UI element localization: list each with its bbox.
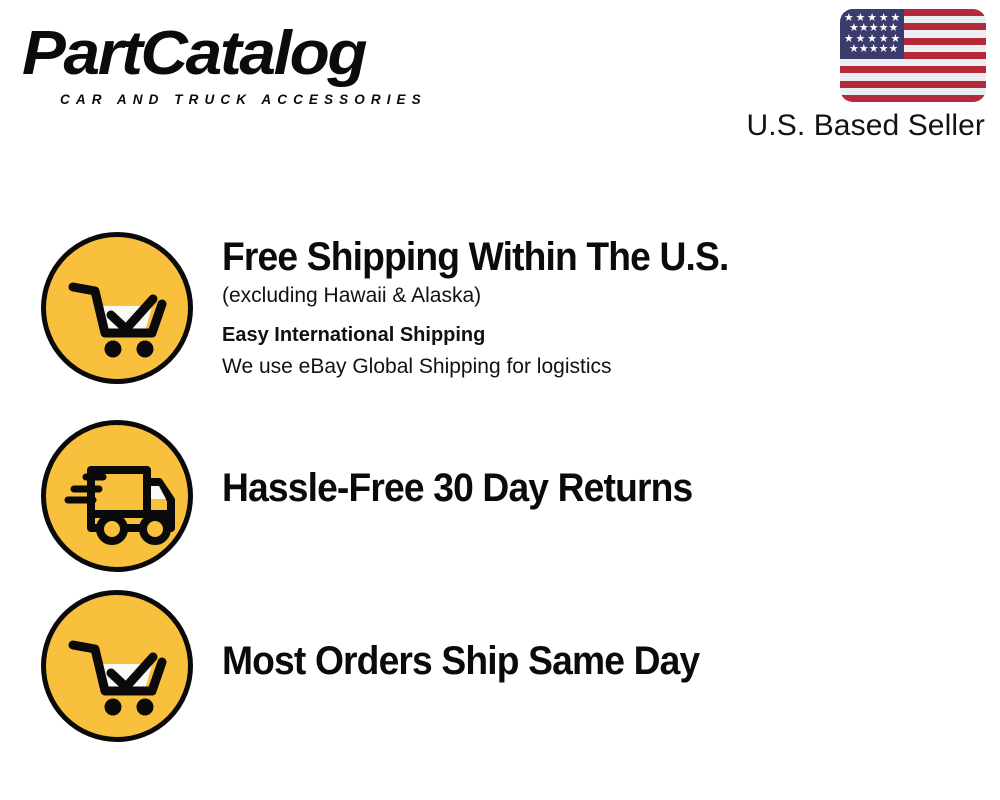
- promo-banner: PartCatalog CAR AND TRUCK ACCESSORIES ★★…: [0, 0, 1000, 800]
- feature-title: Free Shipping Within The U.S.: [222, 234, 946, 280]
- list-item: Free Shipping Within The U.S. (excluding…: [0, 232, 1000, 420]
- feature-text-block: Free Shipping Within The U.S. (excluding…: [193, 232, 1000, 382]
- flag-stars: ★★★★★★★★★★★★★★★★★★★★: [840, 9, 904, 59]
- flag-star-row: ★★★★★: [843, 45, 901, 54]
- feature-title: Hassle-Free 30 Day Returns: [222, 465, 946, 511]
- flag-stripe: [840, 66, 986, 73]
- us-flag-icon: ★★★★★★★★★★★★★★★★★★★★: [840, 9, 986, 102]
- cart-check-glyph: [41, 590, 193, 742]
- truck-glyph: [41, 420, 193, 572]
- feature-subline: We use eBay Global Shipping for logistic…: [222, 351, 1000, 382]
- feature-text-block: Hassle-Free 30 Day Returns: [193, 420, 1000, 511]
- feature-title: Most Orders Ship Same Day: [222, 638, 946, 684]
- us-based-seller-badge: ★★★★★★★★★★★★★★★★★★★★ U.S. Based Seller: [710, 9, 986, 143]
- flag-stripe: [840, 88, 986, 95]
- cart-check-glyph: [41, 232, 193, 384]
- star-icon: ★: [879, 44, 889, 55]
- list-item: Most Orders Ship Same Day: [0, 590, 1000, 750]
- flag-stripe: [840, 95, 986, 102]
- delivery-truck-icon: [41, 420, 193, 572]
- shopping-cart-check-icon: [41, 232, 193, 384]
- star-icon: ★: [869, 44, 879, 55]
- brand-wordmark: PartCatalog: [22, 22, 520, 86]
- seller-badge-label: U.S. Based Seller: [710, 109, 985, 143]
- flag-canton: ★★★★★★★★★★★★★★★★★★★★: [840, 9, 904, 59]
- star-icon: ★: [889, 44, 899, 55]
- brand-tagline: CAR AND TRUCK ACCESSORIES: [60, 92, 427, 107]
- flag-stripe: [840, 73, 986, 80]
- feature-text-block: Most Orders Ship Same Day: [193, 590, 1000, 684]
- flag-stripe: [840, 59, 986, 66]
- star-icon: ★: [859, 44, 869, 55]
- feature-subline-strong: Easy International Shipping: [222, 320, 1000, 351]
- list-item: Hassle-Free 30 Day Returns: [0, 420, 1000, 590]
- shopping-cart-check-icon: [41, 590, 193, 742]
- flag-stripe: [840, 81, 986, 88]
- feature-list: Free Shipping Within The U.S. (excluding…: [0, 232, 1000, 750]
- star-icon: ★: [849, 44, 859, 55]
- feature-subline: (excluding Hawaii & Alaska): [222, 280, 1000, 311]
- brand-logo[interactable]: PartCatalog CAR AND TRUCK ACCESSORIES: [22, 22, 492, 117]
